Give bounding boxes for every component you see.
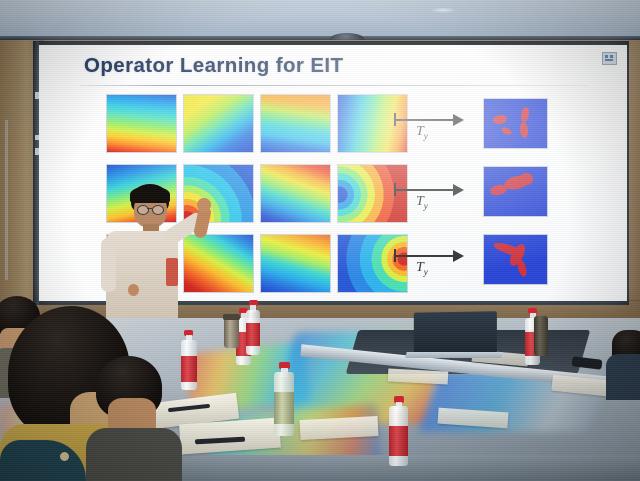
operator-arrow-label: Ty <box>416 260 428 277</box>
water-bottle[interactable] <box>274 362 294 438</box>
operator-arrow: Ty <box>394 177 484 217</box>
laptop-screen[interactable] <box>414 311 497 354</box>
operator-arrow-label: Ty <box>416 194 428 211</box>
water-bottle[interactable] <box>246 300 260 354</box>
slide-title: Operator Learning for EIT <box>84 54 343 78</box>
presenter-left-arm <box>101 238 116 292</box>
eit-reconstruction <box>484 167 547 216</box>
wall-trim <box>5 120 8 280</box>
presenter-hair-top <box>130 186 170 203</box>
operator-arrow: Ty <box>394 107 484 147</box>
earring-icon <box>60 452 69 461</box>
water-bottle[interactable] <box>389 396 408 468</box>
presenter-glasses-left-lens-icon <box>137 205 149 215</box>
presenter-hand <box>197 198 211 212</box>
tea-tumbler[interactable] <box>224 318 239 348</box>
contour-field <box>261 95 330 152</box>
water-bottle[interactable] <box>181 330 197 390</box>
eit-reconstruction <box>484 99 547 148</box>
ceiling <box>0 0 640 40</box>
presenter-pointer-object <box>166 258 178 286</box>
presenter-glasses-bridge <box>147 208 152 209</box>
tea-tumbler-lid <box>223 314 240 320</box>
tea-tumbler[interactable] <box>534 316 548 356</box>
contour-field <box>184 235 253 292</box>
photo-scene: Operator Learning for EIT <box>0 0 640 481</box>
laptop-base[interactable] <box>405 352 502 358</box>
presenter-glasses-right-lens-icon <box>152 205 164 215</box>
contour-field <box>107 95 176 152</box>
operator-arrow: Ty <box>394 243 484 283</box>
slide-corner-logo-icon <box>602 52 617 65</box>
contour-field <box>184 95 253 152</box>
eit-reconstruction <box>484 235 547 284</box>
contour-field <box>261 235 330 292</box>
presenter-left-hand <box>128 284 139 296</box>
notepad[interactable] <box>300 416 379 440</box>
recessed-ceiling-light-icon <box>430 8 456 13</box>
contour-field <box>261 165 330 222</box>
operator-arrow-label: Ty <box>416 124 428 141</box>
title-underline <box>79 85 589 86</box>
